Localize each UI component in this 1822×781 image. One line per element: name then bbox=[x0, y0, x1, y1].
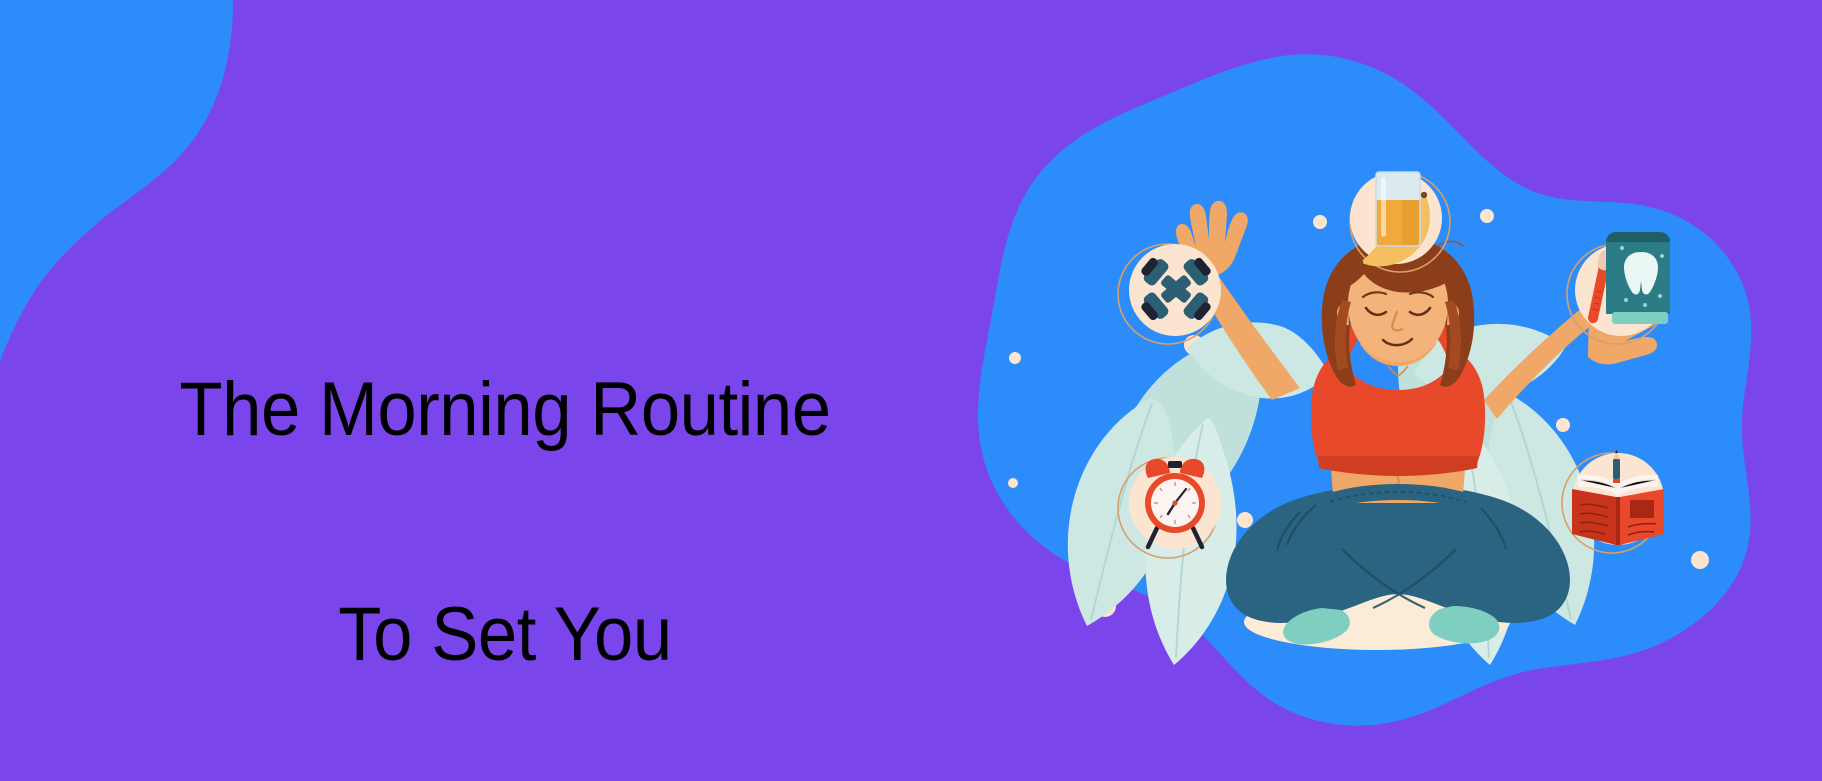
page-title: The Morning Routine To Set You For Succe… bbox=[91, 222, 919, 781]
headline-line-2: To Set You bbox=[91, 597, 919, 672]
tube-top-fold bbox=[1606, 232, 1670, 242]
book-image-block bbox=[1630, 500, 1654, 518]
open-book-icon bbox=[1572, 450, 1664, 545]
clock-center-pin bbox=[1172, 500, 1177, 505]
book-spine bbox=[1616, 497, 1620, 545]
banana-tip-bottom bbox=[1357, 259, 1363, 265]
juice-shade bbox=[1402, 200, 1420, 246]
icon-bubble-dumbbell[interactable] bbox=[1118, 244, 1221, 344]
banner-root: The Morning Routine To Set You For Succe… bbox=[0, 0, 1822, 781]
icon-bubble-breakfast[interactable] bbox=[1350, 172, 1450, 272]
toothpaste-icon bbox=[1585, 232, 1670, 325]
clock-top-knob bbox=[1168, 461, 1182, 468]
headline-line-1: The Morning Routine bbox=[91, 372, 919, 447]
tube-cap bbox=[1612, 312, 1668, 324]
glass-highlight bbox=[1381, 177, 1386, 237]
banana-tip-top bbox=[1421, 192, 1427, 198]
